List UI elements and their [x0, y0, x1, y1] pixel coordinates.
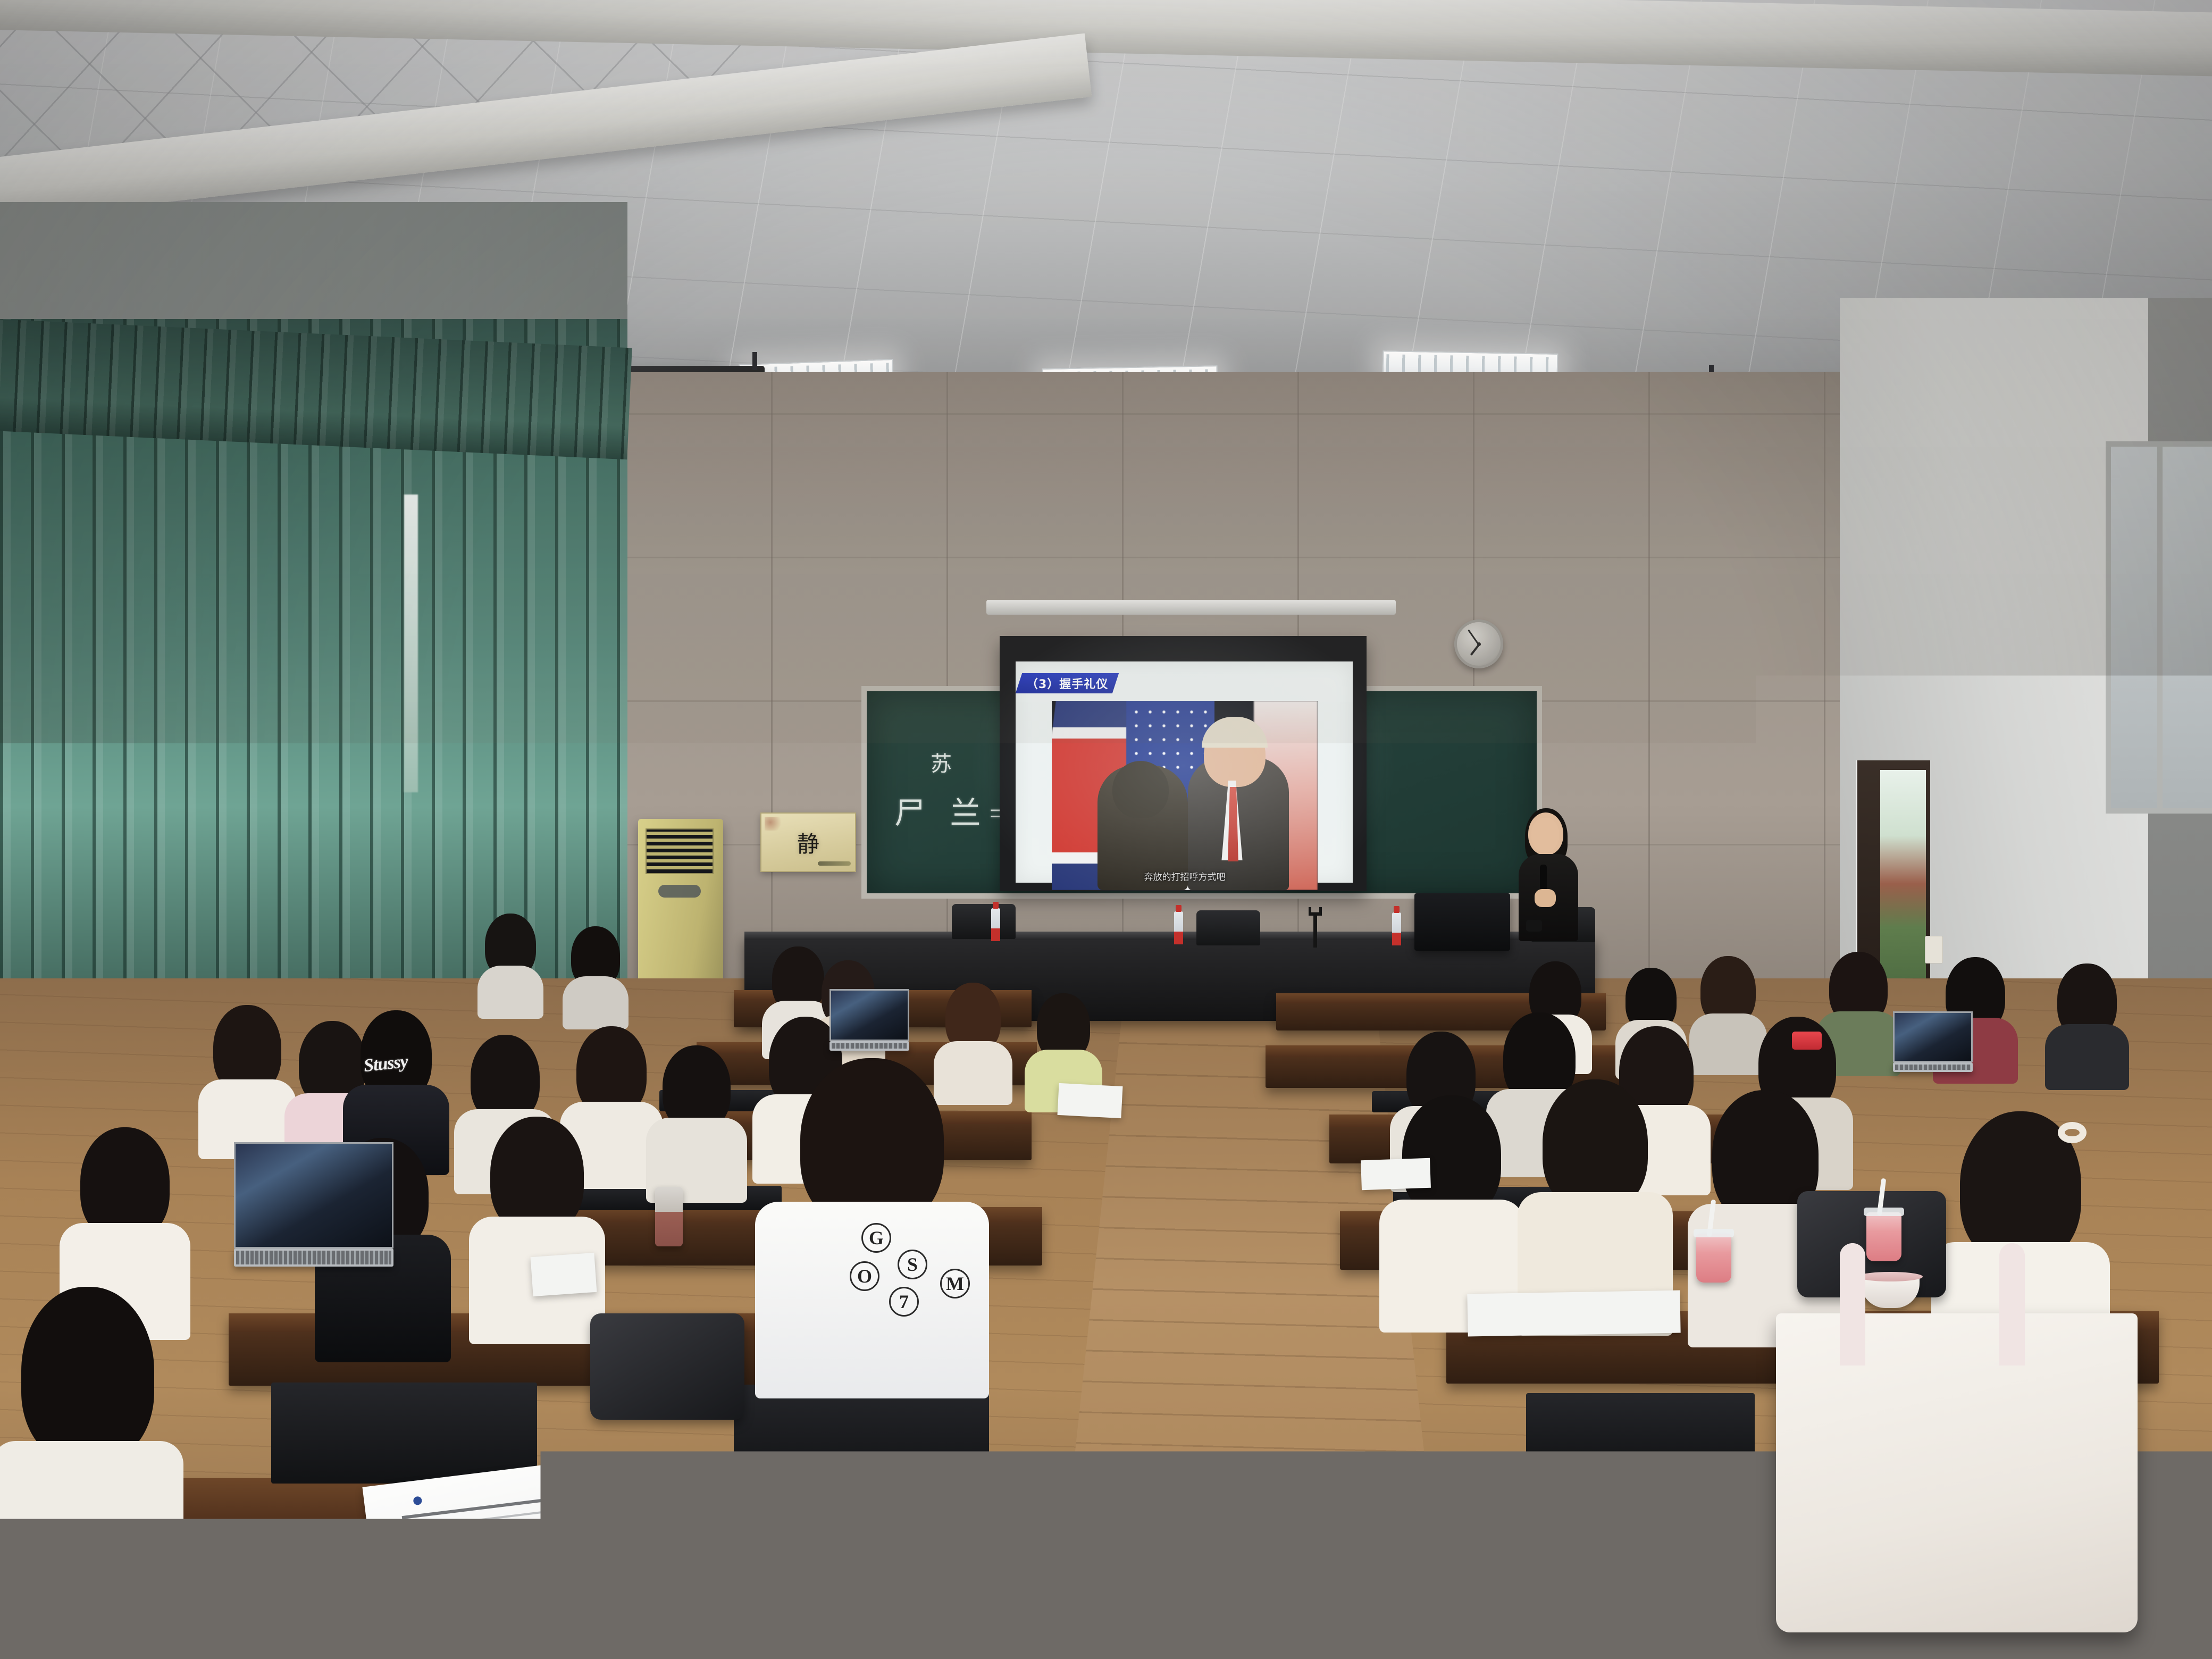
- handout-line: [621, 1554, 772, 1567]
- cup-lid: [1694, 1229, 1734, 1237]
- laptop-screen: [234, 1142, 393, 1249]
- slide-video-still: 奔放的打招呼方式吧: [1052, 701, 1318, 890]
- laptop-keyboard[interactable]: [1895, 1065, 1971, 1070]
- presentation-slide: （3）握手礼仪 奔放的打招呼方式吧: [1016, 661, 1353, 883]
- student-hair: [21, 1287, 154, 1462]
- backpack: [590, 1313, 744, 1420]
- video-subtitle: 奔放的打招呼方式吧: [1052, 869, 1318, 883]
- tote-monogram-pattern: [1786, 1327, 2128, 1621]
- instructor-face: [1531, 818, 1559, 853]
- ac-grille: [646, 828, 714, 874]
- cup-lid: [1864, 1208, 1904, 1216]
- paper-sheet: [1361, 1158, 1431, 1191]
- slide-title-banner: （3）握手礼仪: [1016, 673, 1119, 693]
- student-hair: [1543, 1079, 1648, 1211]
- tote-bag: Kappa: [1776, 1313, 2138, 1632]
- microphone-stand: [1313, 914, 1317, 948]
- student: [564, 926, 627, 1027]
- tote-brand-label: Kappa: [1890, 1398, 1944, 1423]
- wall-clock: [1454, 619, 1503, 668]
- student: [0, 1287, 175, 1659]
- student-chair[interactable]: [1526, 1393, 1755, 1473]
- student-torso: [563, 976, 629, 1029]
- front-desk-chair[interactable]: [952, 904, 1016, 939]
- bubble-tea-cup: [1696, 1234, 1731, 1283]
- slide-title-text: （3）握手礼仪: [1026, 675, 1108, 692]
- handout-line: [624, 1612, 776, 1625]
- handout-line: [622, 1579, 774, 1591]
- student-torso: [477, 966, 543, 1019]
- poster-glyph: 静: [797, 826, 819, 859]
- tote-rim: [1776, 1313, 2138, 1331]
- handout-line: [618, 1518, 769, 1530]
- student: [479, 914, 542, 1015]
- student: [202, 1005, 292, 1143]
- student: [649, 1045, 744, 1189]
- classroom-photo: 苏 尸 兰=蓝 （3）握手礼仪: [0, 0, 2212, 1659]
- podium-monitor: [1414, 893, 1510, 951]
- handout-line: [415, 1604, 566, 1624]
- tee-letter-7: 7: [889, 1287, 919, 1317]
- front-desk-chair[interactable]: [1196, 910, 1260, 945]
- university-emblem: [413, 1496, 423, 1505]
- paper-sheet: [531, 1253, 597, 1296]
- curtain-light-gap: [404, 495, 418, 792]
- laptop-screen: [1893, 1011, 1973, 1062]
- instructor: [1510, 808, 1585, 941]
- student-torso: [2045, 1024, 2129, 1090]
- tee-letter-m: M: [940, 1269, 970, 1298]
- presentation-remote: [1526, 920, 1542, 932]
- tee-letter-o: O: [850, 1261, 879, 1291]
- laptop-keyboard[interactable]: [832, 1043, 907, 1049]
- tee-letter-s: S: [898, 1250, 927, 1279]
- clock-hour-hand: [1470, 644, 1480, 656]
- student: [1382, 1095, 1521, 1308]
- floor-air-conditioner: [638, 819, 723, 984]
- laptop[interactable]: [234, 1249, 393, 1267]
- student-hair: [490, 1117, 584, 1234]
- laptop-keyboard[interactable]: [236, 1251, 391, 1264]
- travel-mug: [655, 1187, 683, 1246]
- laptop-screen: [829, 989, 909, 1041]
- water-bottle: [991, 908, 1000, 941]
- bubble-tea-cup: [1866, 1212, 1901, 1261]
- water-bottle: [1174, 911, 1183, 944]
- tee-letter-g: G: [861, 1223, 891, 1253]
- student-chair[interactable]: [734, 1385, 989, 1486]
- instructor-hand: [1535, 889, 1556, 907]
- student-chair[interactable]: [271, 1382, 537, 1484]
- handout-title-line: [617, 1505, 768, 1519]
- student-torso: [0, 1441, 183, 1659]
- water-bottle: [1392, 912, 1401, 945]
- university-emblem: [629, 1497, 638, 1506]
- handout-title-line: [402, 1497, 553, 1519]
- handout-line: [619, 1542, 771, 1555]
- handout-line: [406, 1534, 557, 1555]
- handout-line: [621, 1566, 773, 1579]
- student: [1521, 1079, 1670, 1308]
- right-window: [2106, 441, 2212, 814]
- video-figure-left-head: [1112, 761, 1169, 818]
- ac-badge: [658, 885, 701, 898]
- hair-clip: [1792, 1032, 1822, 1050]
- paper-sheet: [1058, 1083, 1123, 1118]
- wall-poster-quiet: 静: [760, 812, 856, 872]
- student: [2047, 963, 2127, 1080]
- clock-center-pin: [1477, 642, 1481, 646]
- course-handout[interactable]: [362, 1460, 605, 1659]
- laptop[interactable]: [1893, 1062, 1973, 1072]
- projection-screen-roller: [986, 600, 1396, 615]
- chalk-writing-line-1: 苏: [931, 747, 953, 777]
- projection-screen: （3）握手礼仪 奔放的打招呼方式吧: [1000, 636, 1367, 891]
- course-handout[interactable]: [579, 1470, 814, 1659]
- laptop[interactable]: [829, 1041, 909, 1051]
- hair-scrunchie: [2058, 1122, 2087, 1143]
- paper-sheet: [1467, 1291, 1680, 1337]
- student-in-stussy-shirt: [346, 1010, 447, 1159]
